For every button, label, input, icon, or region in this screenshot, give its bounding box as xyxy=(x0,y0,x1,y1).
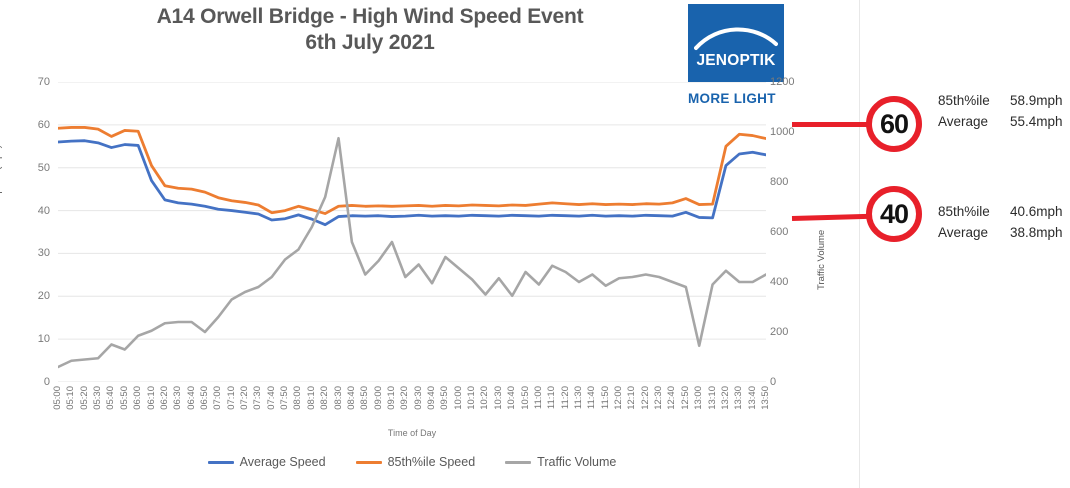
x-tick: 07:20 xyxy=(240,386,250,410)
annotation-key: 85th%ile xyxy=(938,91,1010,112)
x-tick: 12:10 xyxy=(627,386,637,410)
x-tick: 09:50 xyxy=(440,386,450,410)
x-tick: 13:50 xyxy=(761,386,771,410)
y-axis-left: 010203040506070 xyxy=(14,74,50,390)
annotation-value: 40.6mph xyxy=(1010,202,1063,223)
y-tick-left: 70 xyxy=(16,76,50,88)
x-tick: 08:10 xyxy=(307,386,317,410)
x-tick: 06:00 xyxy=(133,386,143,410)
y-tick-left: 30 xyxy=(16,247,50,259)
chart-screenshot: A14 Orwell Bridge - High Wind Speed Even… xyxy=(0,0,1070,488)
legend-label: Traffic Volume xyxy=(537,455,616,469)
legend-swatch xyxy=(208,461,234,464)
logo-box: JENOPTIK xyxy=(688,4,784,82)
y-tick-right: 400 xyxy=(770,276,810,288)
y-tick-left: 20 xyxy=(16,290,50,302)
chart-legend: Average Speed85th%ile SpeedTraffic Volum… xyxy=(58,455,766,469)
x-tick: 10:50 xyxy=(521,386,531,410)
x-tick: 11:40 xyxy=(587,386,597,409)
x-tick: 05:00 xyxy=(53,386,63,410)
plot-area xyxy=(58,82,766,382)
annotation-40-text: 85th%ile 40.6mph Average 38.8mph xyxy=(938,202,1063,244)
chart-card: A14 Orwell Bridge - High Wind Speed Even… xyxy=(0,0,860,488)
x-tick: 12:20 xyxy=(641,386,651,410)
annotation-key: 85th%ile xyxy=(938,202,1010,223)
x-tick: 09:10 xyxy=(387,386,397,410)
x-tick: 05:50 xyxy=(120,386,130,410)
y-tick-right: 1000 xyxy=(770,126,810,138)
x-tick: 05:20 xyxy=(80,386,90,410)
annotation-row: Average 38.8mph xyxy=(938,223,1063,244)
title-line-1: A14 Orwell Bridge - High Wind Speed Even… xyxy=(60,4,680,30)
x-tick: 09:20 xyxy=(400,386,410,410)
x-tick: 08:30 xyxy=(334,386,344,410)
annotation-row: 85th%ile 58.9mph xyxy=(938,91,1063,112)
title-line-2: 6th July 2021 xyxy=(60,30,680,56)
x-tick: 10:20 xyxy=(480,386,490,410)
x-tick: 11:00 xyxy=(534,386,544,409)
legend-item[interactable]: Average Speed xyxy=(208,455,326,469)
x-tick: 11:20 xyxy=(561,386,571,409)
y-axis-label-right: Traffic Volume xyxy=(816,230,827,290)
x-tick: 10:30 xyxy=(494,386,504,410)
page-title: A14 Orwell Bridge - High Wind Speed Even… xyxy=(60,4,680,55)
x-tick: 07:00 xyxy=(213,386,223,410)
x-tick: 08:00 xyxy=(293,386,303,410)
x-tick: 07:30 xyxy=(253,386,263,410)
x-axis-label: Time of Day xyxy=(58,428,766,438)
annotation-row: 85th%ile 40.6mph xyxy=(938,202,1063,223)
y-tick-left: 50 xyxy=(16,162,50,174)
x-tick: 10:10 xyxy=(467,386,477,410)
x-tick: 11:30 xyxy=(574,386,584,409)
x-tick: 13:40 xyxy=(748,386,758,410)
annotation-value: 55.4mph xyxy=(1010,112,1063,133)
annotation-value: 38.8mph xyxy=(1010,223,1063,244)
x-tick: 11:10 xyxy=(547,386,557,409)
x-tick: 06:20 xyxy=(160,386,170,410)
y-axis-label-left: Speed (mph) xyxy=(0,145,3,200)
x-tick: 12:30 xyxy=(654,386,664,410)
x-tick: 06:50 xyxy=(200,386,210,410)
x-tick: 09:40 xyxy=(427,386,437,410)
y-tick-right: 600 xyxy=(770,226,810,238)
annotation-60-text: 85th%ile 58.9mph Average 55.4mph xyxy=(938,91,1063,133)
x-tick: 05:40 xyxy=(106,386,116,410)
x-tick: 13:00 xyxy=(694,386,704,410)
x-tick: 09:00 xyxy=(374,386,384,410)
x-tick: 08:20 xyxy=(320,386,330,410)
x-tick: 12:50 xyxy=(681,386,691,410)
y-tick-right: 800 xyxy=(770,176,810,188)
y-tick-right: 200 xyxy=(770,326,810,338)
y-tick-right: 1200 xyxy=(770,76,810,88)
annotation-key: Average xyxy=(938,112,1010,133)
logo-wordmark: JENOPTIK xyxy=(688,52,784,70)
x-tick: 10:40 xyxy=(507,386,517,410)
x-tick: 11:50 xyxy=(601,386,611,409)
x-tick: 13:20 xyxy=(721,386,731,410)
annotation-key: Average xyxy=(938,223,1010,244)
x-tick: 06:10 xyxy=(147,386,157,410)
y-tick-right: 0 xyxy=(770,376,810,388)
y-tick-left: 10 xyxy=(16,333,50,345)
arc-icon xyxy=(694,18,778,52)
y-tick-left: 40 xyxy=(16,205,50,217)
x-tick: 13:10 xyxy=(708,386,718,410)
x-tick: 13:30 xyxy=(734,386,744,410)
x-tick: 08:50 xyxy=(360,386,370,410)
x-tick: 05:30 xyxy=(93,386,103,410)
x-tick: 08:40 xyxy=(347,386,357,410)
annotation-value: 58.9mph xyxy=(1010,91,1063,112)
legend-item[interactable]: Traffic Volume xyxy=(505,455,616,469)
x-tick: 09:30 xyxy=(414,386,424,410)
x-tick: 10:00 xyxy=(454,386,464,410)
legend-label: 85th%ile Speed xyxy=(388,455,476,469)
x-tick: 06:30 xyxy=(173,386,183,410)
x-tick: 07:50 xyxy=(280,386,290,410)
annotation-row: Average 55.4mph xyxy=(938,112,1063,133)
x-axis-ticks: 05:0005:1005:2005:3005:4005:5006:0006:10… xyxy=(58,386,766,430)
y-tick-left: 0 xyxy=(16,376,50,388)
legend-label: Average Speed xyxy=(240,455,326,469)
speed-limit-sign-60: 60 xyxy=(866,96,922,152)
chart-canvas xyxy=(58,82,766,382)
legend-swatch xyxy=(505,461,531,464)
legend-swatch xyxy=(356,461,382,464)
legend-item[interactable]: 85th%ile Speed xyxy=(356,455,476,469)
x-tick: 07:40 xyxy=(267,386,277,410)
x-tick: 07:10 xyxy=(227,386,237,410)
x-tick: 06:40 xyxy=(187,386,197,410)
x-tick: 05:10 xyxy=(66,386,76,410)
leader-line-60 xyxy=(792,122,872,127)
x-tick: 12:00 xyxy=(614,386,624,410)
speed-limit-sign-40: 40 xyxy=(866,186,922,242)
y-tick-left: 60 xyxy=(16,119,50,131)
x-tick: 12:40 xyxy=(667,386,677,410)
